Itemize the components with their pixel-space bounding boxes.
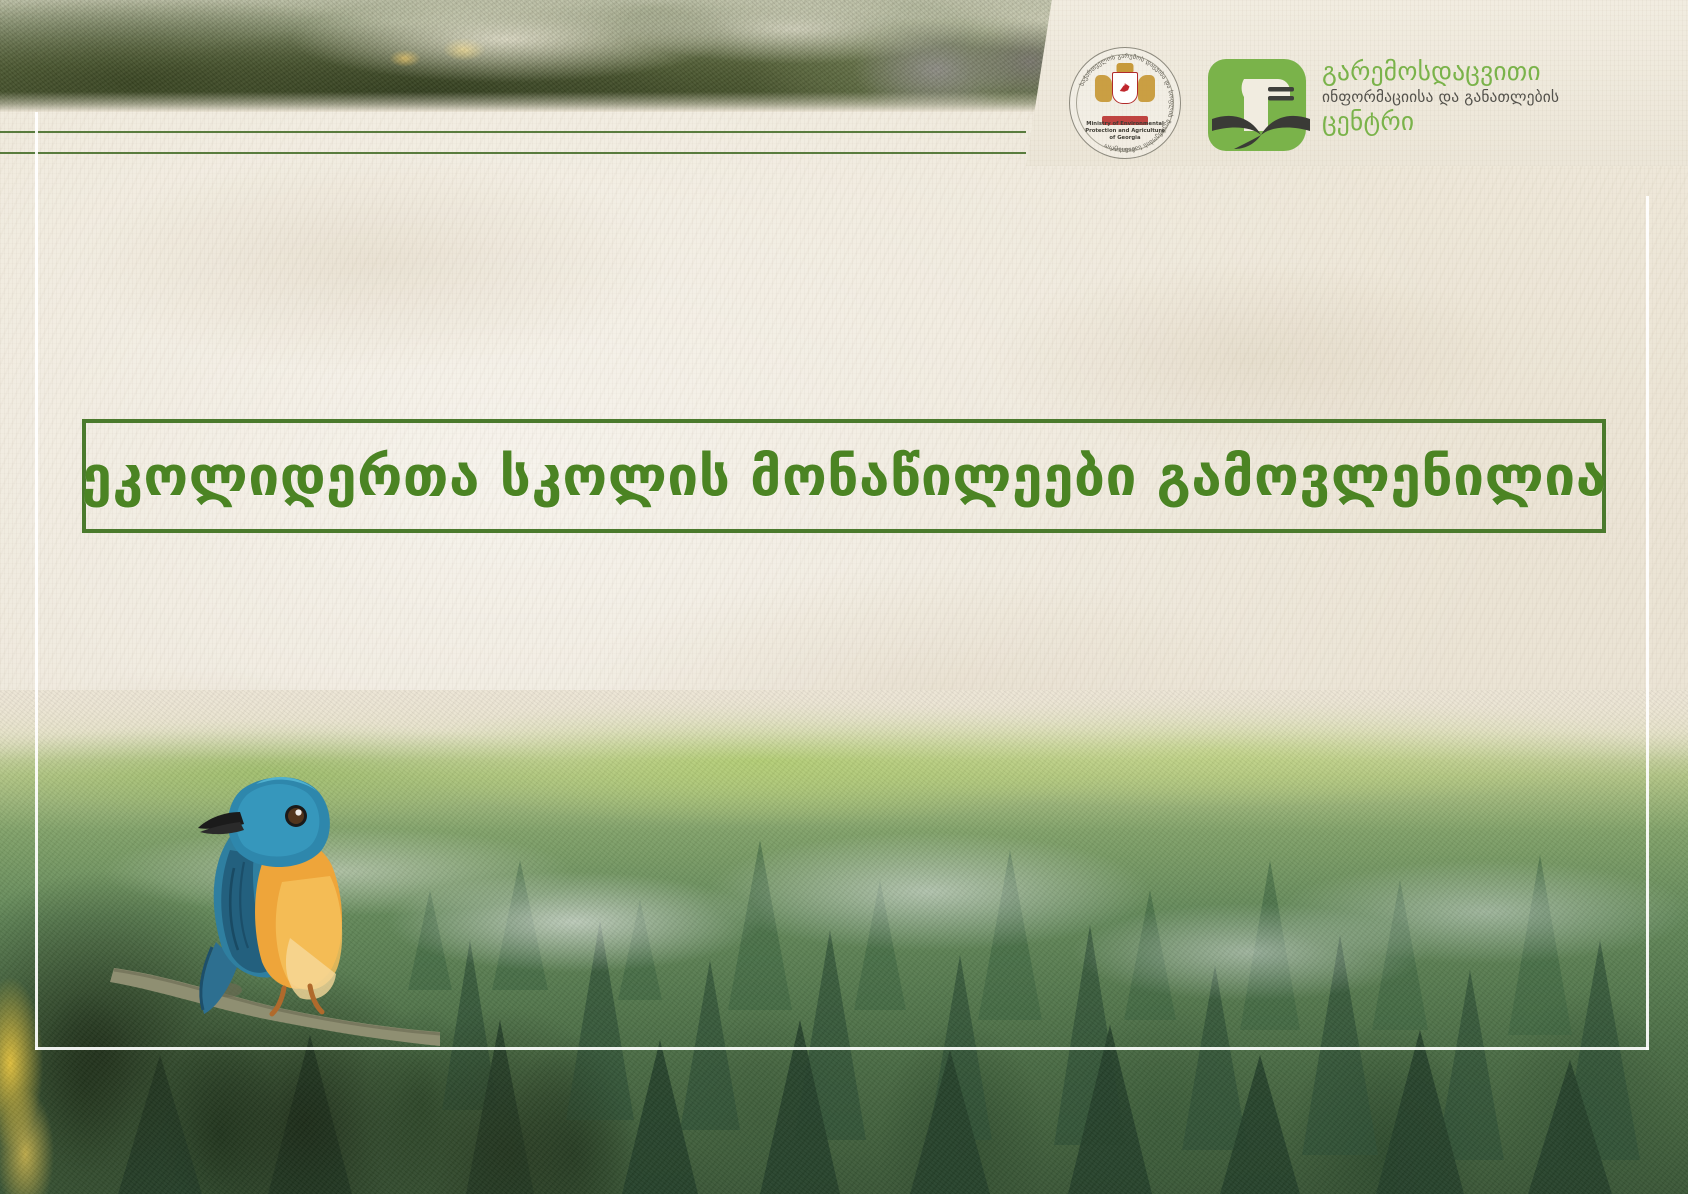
seal-en-line3: of Georgia (1069, 135, 1181, 142)
seal-english-name: Ministry of Environmental Protection and… (1069, 121, 1181, 142)
title-banner-box: ეკოლიდერთა სკოლის მონაწილეები გამოვლენილ… (82, 419, 1606, 533)
eiec-logo-line1: გარემოსდაცვითი (1322, 57, 1682, 87)
eiec-logo-text: გარემოსდაცვითი ინფორმაციისა და განათლები… (1322, 57, 1682, 137)
st-george-rider-icon (1118, 80, 1133, 95)
open-book-leaf-logo-icon (1208, 53, 1316, 157)
frame-left-border (35, 112, 38, 1050)
page-title: ეკოლიდერთა სკოლის მონაწილეები გამოვლენილ… (81, 449, 1606, 504)
frame-bottom-border (35, 1047, 1649, 1050)
eiec-logo-line2: ინფორმაციისა და განათლების (1322, 87, 1682, 107)
eiec-logo-line3: ცენტრი (1322, 107, 1682, 137)
blue-throated-flycatcher-bird (178, 742, 374, 1020)
ministry-seal-icon: საქართველოს გარემოს დაცვისა და სოფლის მე… (1069, 47, 1181, 159)
seal-website-url: mepa.gov.ge (1069, 147, 1181, 151)
header-rule-lower (0, 152, 1026, 154)
frame-right-border (1646, 196, 1649, 1050)
state-emblem-icon (1094, 68, 1156, 124)
header-rule-upper (0, 131, 1026, 133)
seal-en-line2: Protection and Agriculture (1069, 128, 1181, 135)
poster-canvas: საქართველოს გარემოს დაცვისა და სოფლის მე… (0, 0, 1688, 1194)
seal-en-line1: Ministry of Environmental (1069, 121, 1181, 128)
